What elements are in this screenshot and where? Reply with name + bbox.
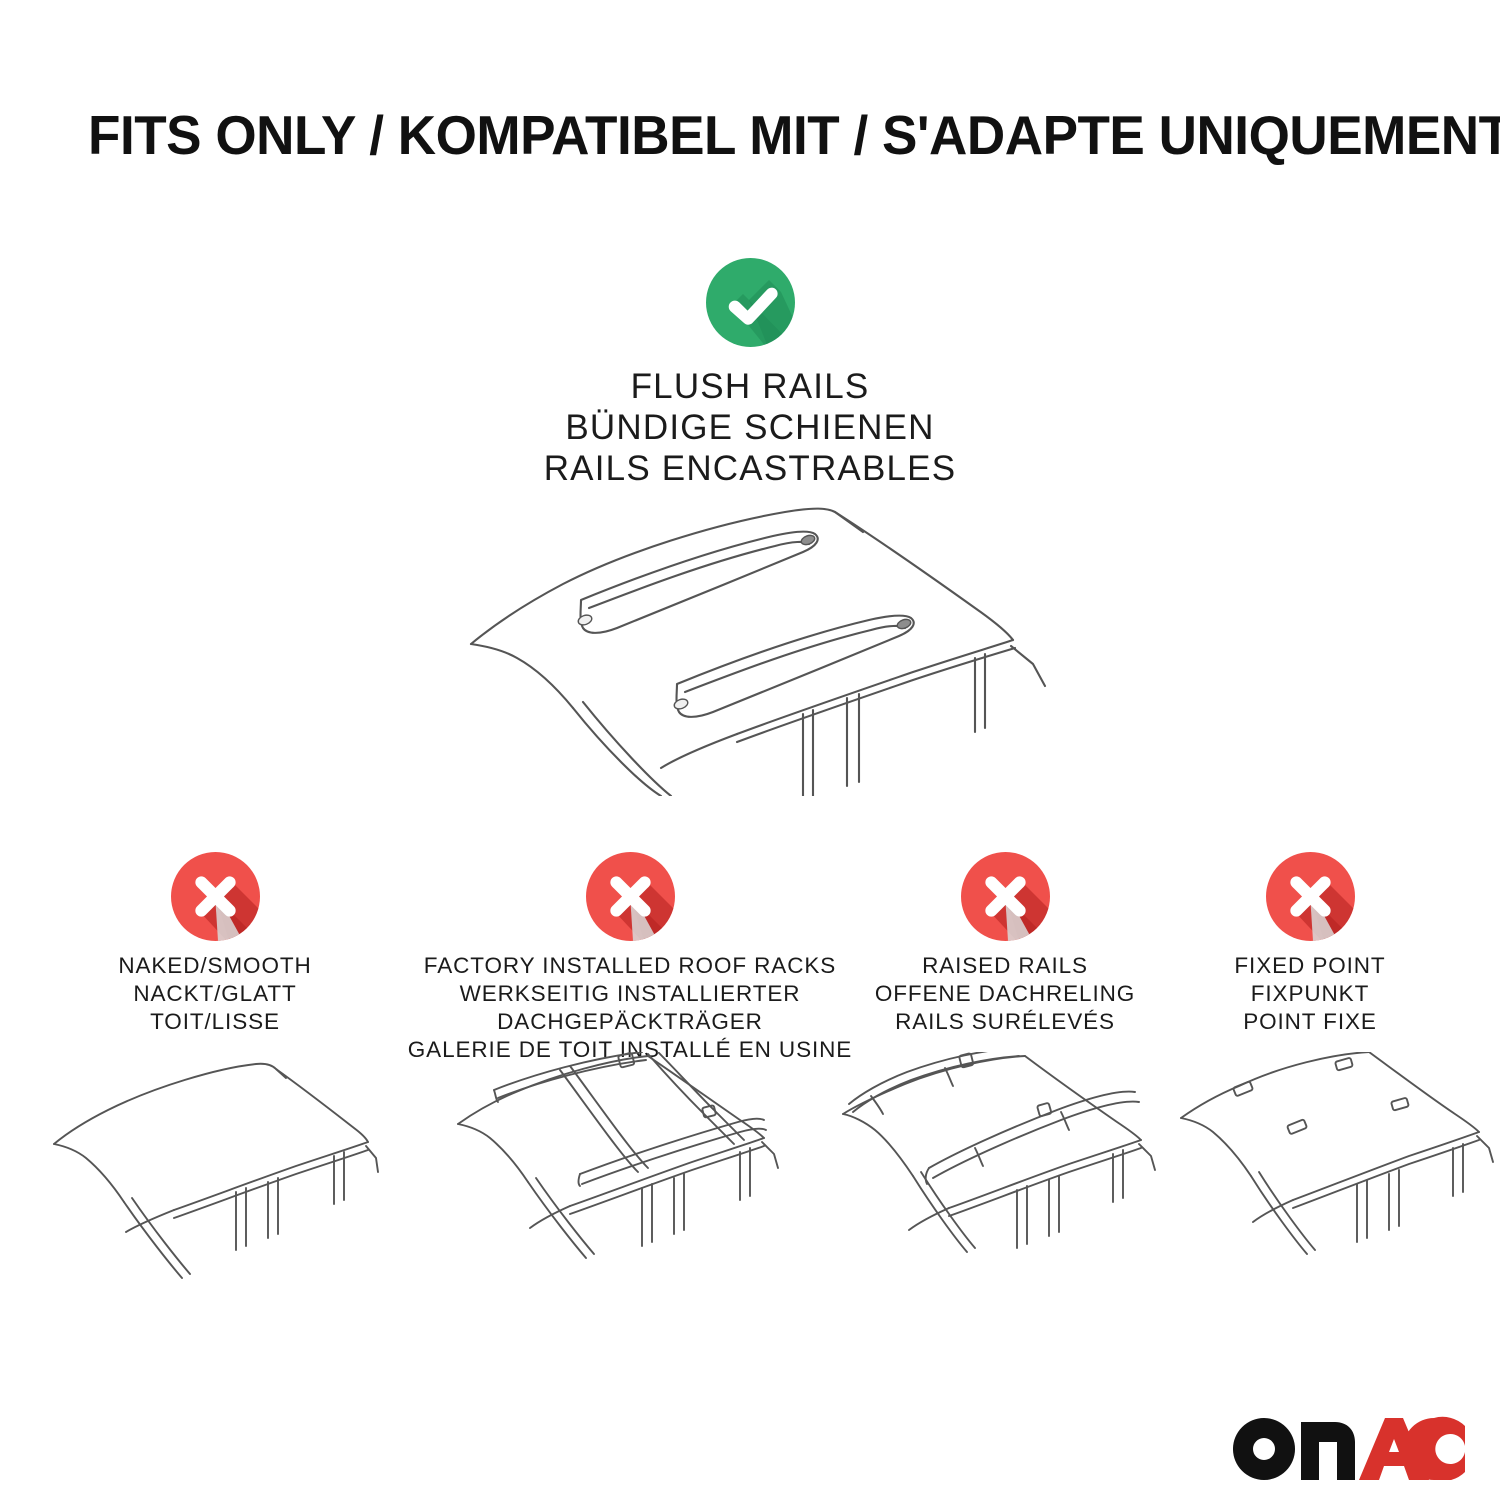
x-long-shadow [171,852,260,941]
reject-label-line: NAKED/SMOOTH [55,952,375,980]
x-circle-icon [586,852,675,941]
reject-label-line: FIXED POINT [1185,952,1435,980]
reject-labels: RAISED RAILS OFFENE DACHRELING RAILS SUR… [840,952,1170,1036]
reject-label-line: FIXPUNKT [1185,980,1435,1008]
logo-letter-o [1233,1418,1295,1480]
approved-section: FLUSH RAILS BÜNDIGE SCHIENEN RAILS ENCAS… [0,258,1500,489]
approved-label-en: FLUSH RAILS [0,366,1500,407]
reject-labels: FACTORY INSTALLED ROOF RACKS WERKSEITIG … [402,952,858,1064]
check-circle-icon [706,258,795,347]
reject-label-line: FACTORY INSTALLED ROOF RACKS [402,952,858,980]
car-roof-fixed-point-illustration [1175,1052,1495,1282]
x-circle-icon [171,852,260,941]
car-roof-factory-racks-illustration [452,1052,807,1282]
car-roof-flush-rails-illustration [455,496,1065,796]
reject-labels: NAKED/SMOOTH NACKT/GLATT TOIT/LISSE [55,952,375,1036]
omac-logo [1233,1414,1465,1480]
approved-label-fr: RAILS ENCASTRABLES [0,448,1500,489]
car-roof-raised-rails-illustration [825,1052,1185,1282]
reject-item-fixed-point: FIXED POINT FIXPUNKT POINT FIXE [1185,852,1435,1036]
check-long-shadow [706,258,795,347]
reject-label-line: DACHGEPÄCKTRÄGER [402,1008,858,1036]
x-circle-icon [1266,852,1355,941]
approved-label-de: BÜNDIGE SCHIENEN [0,407,1500,448]
x-long-shadow [1266,852,1355,941]
reject-item-raised-rails: RAISED RAILS OFFENE DACHRELING RAILS SUR… [840,852,1170,1036]
page-title: FITS ONLY / KOMPATIBEL MIT / S'ADAPTE UN… [88,104,1371,166]
reject-label-line: NACKT/GLATT [55,980,375,1008]
reject-label-line: RAILS SURÉLEVÉS [840,1008,1170,1036]
x-long-shadow [586,852,675,941]
not-compatible-section: NAKED/SMOOTH NACKT/GLATT TOIT/LISSE [0,852,1500,1472]
logo-letter-m [1301,1422,1355,1480]
reject-item-factory-installed-roof-racks: FACTORY INSTALLED ROOF RACKS WERKSEITIG … [402,852,858,1064]
reject-labels: FIXED POINT FIXPUNKT POINT FIXE [1185,952,1435,1036]
reject-label-line: TOIT/LISSE [55,1008,375,1036]
car-roof-naked-illustration [50,1052,380,1282]
reject-label-line: WERKSEITIG INSTALLIERTER [402,980,858,1008]
approved-labels: FLUSH RAILS BÜNDIGE SCHIENEN RAILS ENCAS… [0,366,1500,489]
x-long-shadow [961,852,1050,941]
logo-letter-c [1403,1417,1465,1480]
reject-label-line: RAISED RAILS [840,952,1170,980]
reject-label-line: OFFENE DACHRELING [840,980,1170,1008]
x-circle-icon [961,852,1050,941]
reject-label-line: POINT FIXE [1185,1008,1435,1036]
reject-item-naked-smooth: NAKED/SMOOTH NACKT/GLATT TOIT/LISSE [55,852,375,1036]
